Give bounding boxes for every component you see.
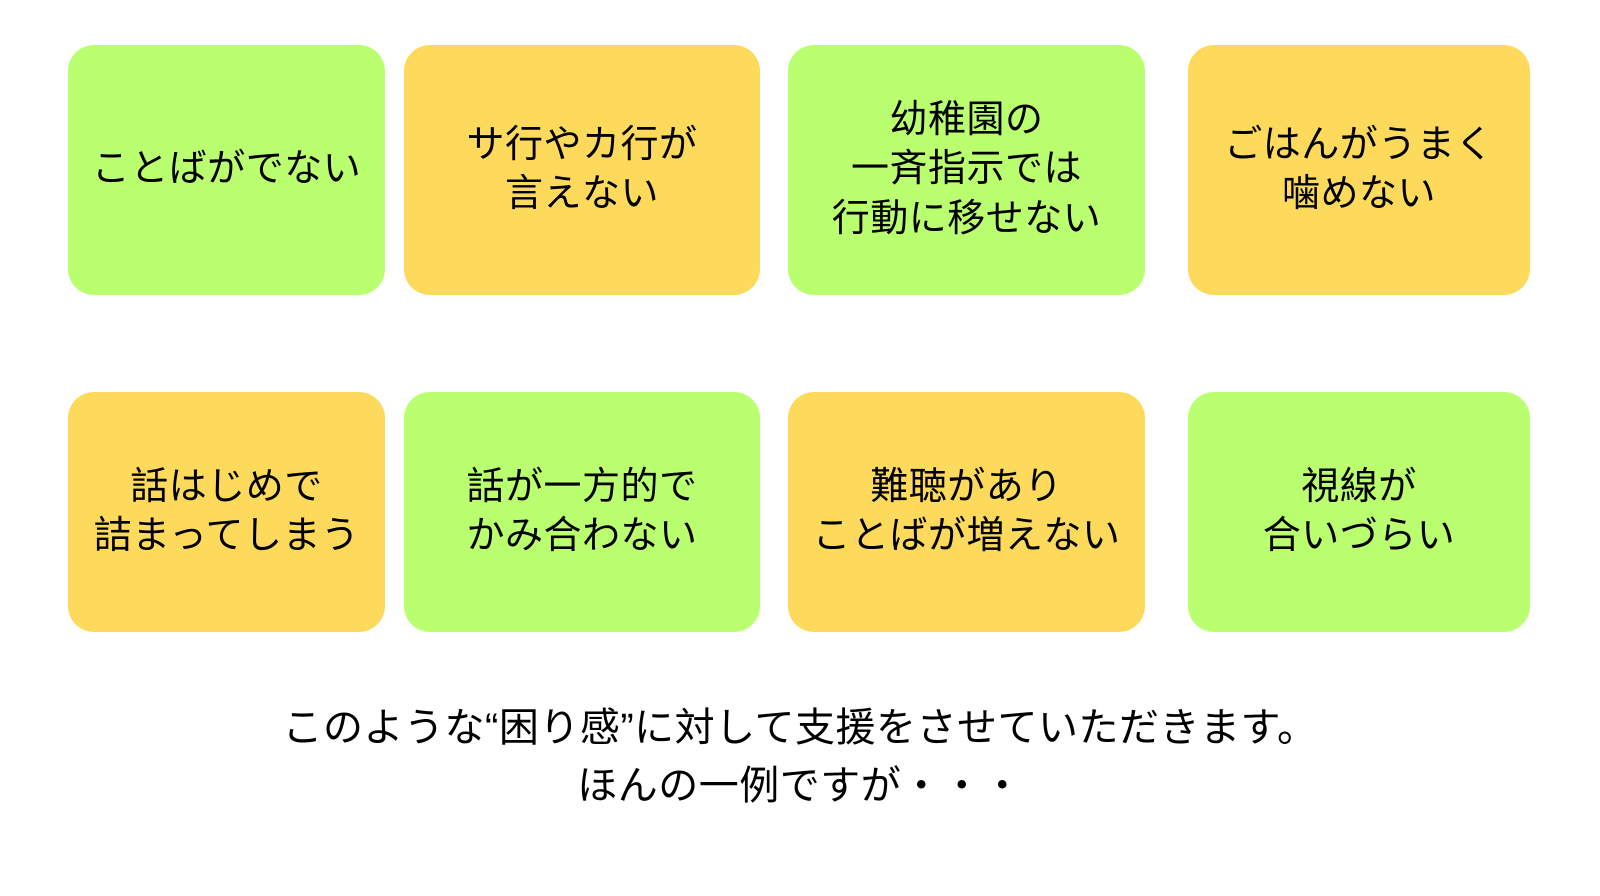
concern-card-label: 幼稚園の 一斉指示では 行動に移せない bbox=[832, 96, 1102, 244]
concern-card-kotoba-ga-denai[interactable]: ことばがでない bbox=[68, 45, 385, 295]
concern-card-hanashihajime-tsumaru[interactable]: 話はじめで 詰まってしまう bbox=[68, 392, 385, 632]
concern-cards-board: ことばがでない サ行やカ行が 言えない 幼稚園の 一斉指示では 行動に移せない … bbox=[0, 0, 1600, 896]
concern-card-label: 話が一方的で かみ合わない bbox=[466, 463, 697, 562]
concern-card-shisen-aizurai[interactable]: 視線が 合いづらい bbox=[1188, 392, 1530, 632]
concern-card-gohan-kamenai[interactable]: ごはんがうまく 噛めない bbox=[1188, 45, 1530, 295]
concern-card-label: 話はじめで 詰まってしまう bbox=[93, 463, 359, 562]
concern-card-youchien-issei-shiji[interactable]: 幼稚園の 一斉指示では 行動に移せない bbox=[788, 45, 1145, 295]
concern-card-label: サ行やカ行が 言えない bbox=[466, 121, 697, 220]
caption-block: このような“困り感”に対して支援をさせていただきます。 ほんの一例ですが・・・ bbox=[0, 700, 1600, 815]
concern-card-label: 難聴があり ことばが増えない bbox=[812, 463, 1120, 562]
concern-card-label: ことばがでない bbox=[92, 145, 362, 194]
concern-card-sagyo-kagyo-ienai[interactable]: サ行やカ行が 言えない bbox=[404, 45, 760, 295]
caption-line-1: このような“困り感”に対して支援をさせていただきます。 bbox=[0, 700, 1600, 758]
concern-card-hanashi-ippouteki[interactable]: 話が一方的で かみ合わない bbox=[404, 392, 760, 632]
concern-card-label: 視線が 合いづらい bbox=[1263, 463, 1456, 562]
concern-card-nanchou-kotoba-fuenai[interactable]: 難聴があり ことばが増えない bbox=[788, 392, 1145, 632]
concern-card-label: ごはんがうまく 噛めない bbox=[1224, 121, 1494, 220]
caption-line-2: ほんの一例ですが・・・ bbox=[0, 758, 1600, 816]
